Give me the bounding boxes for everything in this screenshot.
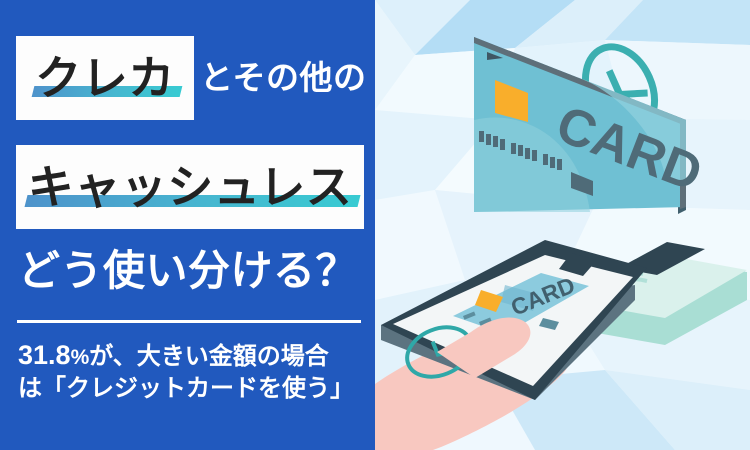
stat-line-1: 31.8%が、大きい金額の場合 — [18, 340, 364, 373]
headline-line1-highlight: クレカ — [35, 52, 175, 104]
headline-highlight-inner-1: クレカ — [31, 50, 179, 106]
stat-percent-sign: % — [71, 346, 90, 369]
headline-line1-tail: とその他の — [200, 52, 367, 104]
banner: クレカ とその他の キャッシュレス どう使い分ける？ 31.8%が、大きい金額の… — [0, 0, 750, 450]
divider — [17, 320, 361, 323]
stat-line1-rest: が、大きい金額の場合 — [89, 343, 329, 370]
headline-line2-highlight: キャッシュレス — [28, 161, 353, 213]
illustration-panel: CARD — [375, 0, 750, 450]
stat-number: 31.8 — [18, 340, 71, 370]
headline-highlight-box-2: キャッシュレス — [16, 145, 364, 229]
illustration-svg: CARD — [375, 0, 750, 450]
headline-line3: どう使い分ける？ — [18, 245, 358, 297]
stat-line-2: は「クレジットカードを使う」 — [18, 373, 364, 404]
headline-highlight-inner-2: キャッシュレス — [24, 159, 357, 215]
headline-panel: クレカ とその他の キャッシュレス どう使い分ける？ 31.8%が、大きい金額の… — [0, 0, 375, 450]
stat-block: 31.8%が、大きい金額の場合 は「クレジットカードを使う」 — [18, 340, 364, 404]
headline-highlight-box-1: クレカ — [16, 36, 194, 120]
